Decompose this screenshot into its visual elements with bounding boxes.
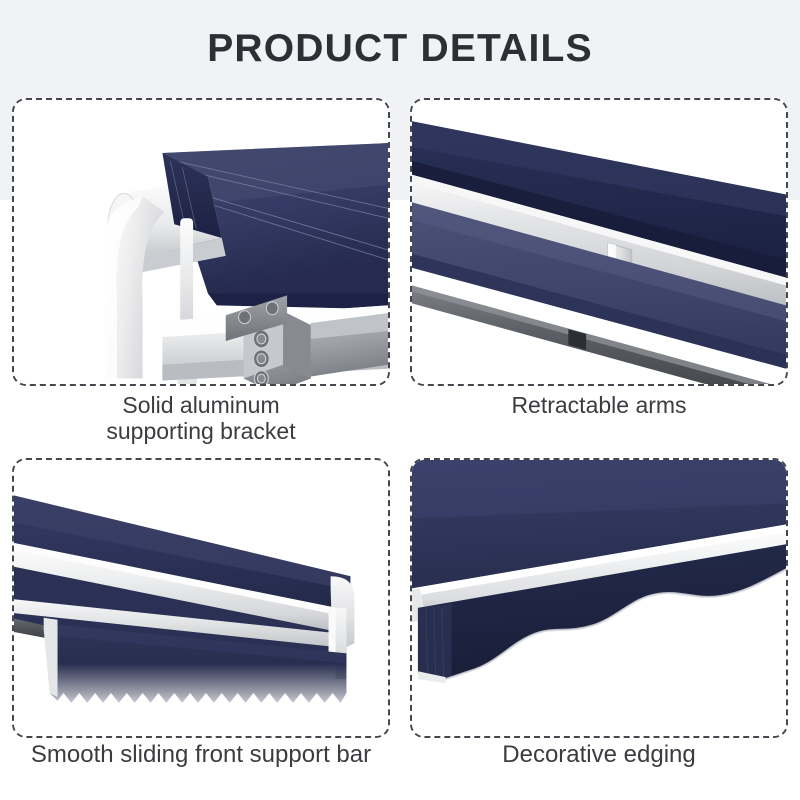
caption-decorative-edging: Decorative edging	[410, 742, 788, 768]
retractable-arms-illustration	[412, 100, 786, 384]
panel-decorative-edging	[410, 458, 788, 738]
panel-retractable-arms	[410, 98, 788, 386]
page-title: PRODUCT DETAILS	[0, 27, 800, 71]
smooth-sliding-front-support-bar-illustration	[14, 460, 388, 736]
caption-solid-aluminum-supporting-bracket: Solid aluminum supporting bracket	[12, 392, 390, 444]
panel-solid-aluminum-supporting-bracket	[12, 98, 390, 386]
panel-smooth-sliding-front-support-bar	[12, 458, 390, 738]
decorative-edging-illustration	[412, 460, 786, 736]
caption-smooth-sliding-front-support-bar: Smooth sliding front support bar	[2, 742, 400, 768]
solid-aluminum-supporting-bracket-illustration	[14, 100, 388, 384]
caption-retractable-arms: Retractable arms	[410, 392, 788, 418]
